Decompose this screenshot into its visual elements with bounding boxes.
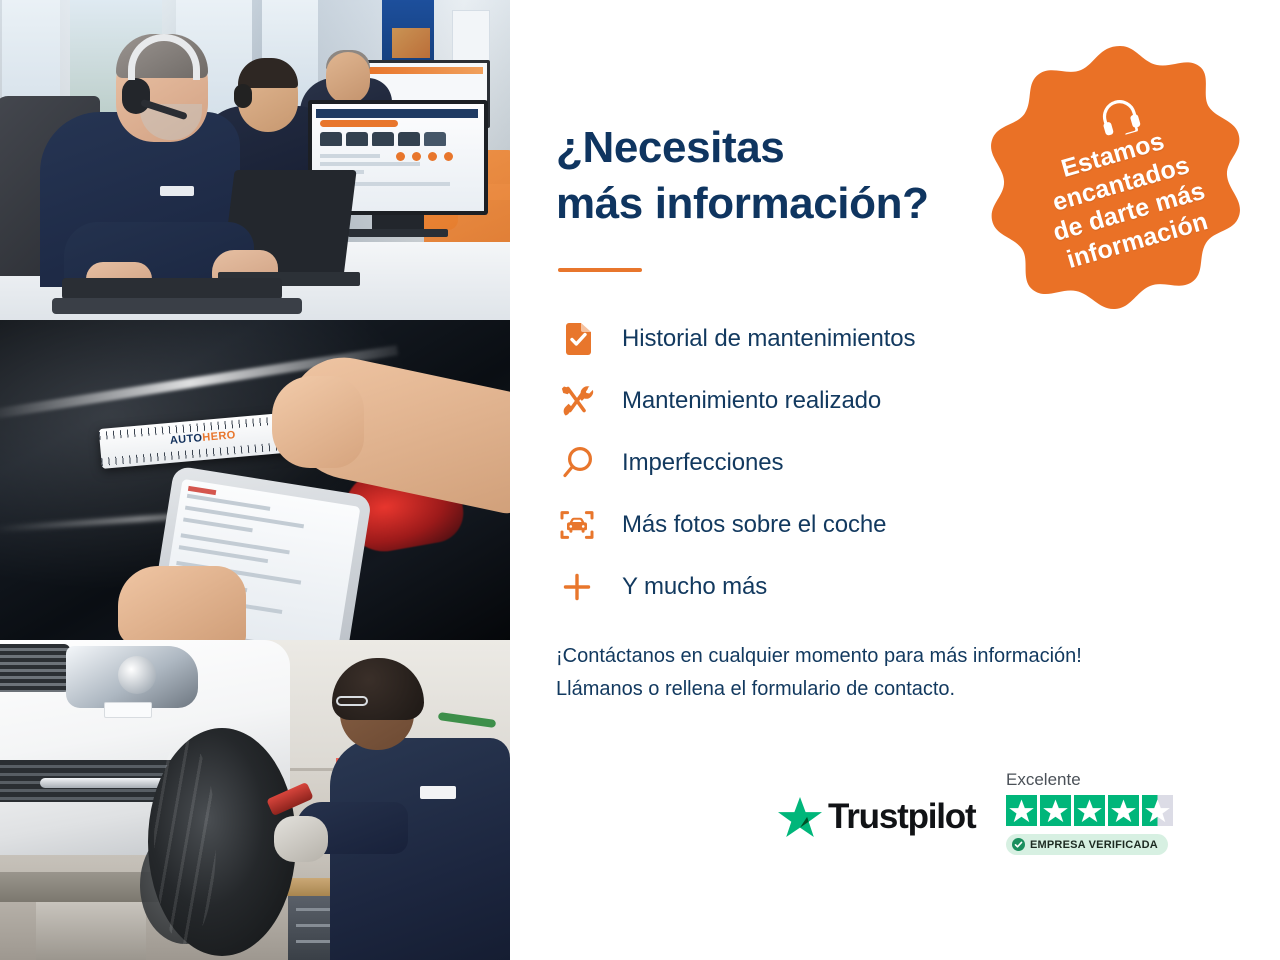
feature-label: Más fotos sobre el coche — [622, 511, 886, 539]
ruler-brand-hero: HERO — [202, 429, 236, 444]
feature-item-mantenimiento: Mantenimiento realizado — [554, 370, 1074, 432]
feature-list: Historial de mantenimientos Mantenimient… — [554, 308, 1074, 618]
trustpilot-logo[interactable]: Trustpilot — [778, 796, 975, 838]
content-panel: ¿Necesitas más información? Estamos enca — [510, 0, 1280, 960]
plus-icon — [554, 566, 600, 608]
headset-earcup — [122, 78, 150, 114]
info-badge: Estamos encantados de darte más informac… — [988, 40, 1252, 320]
inspector-hand — [118, 566, 246, 640]
car-lift-column — [36, 902, 146, 960]
rating-star-filled — [1074, 795, 1105, 826]
rating-star-filled — [1108, 795, 1139, 826]
verified-check-icon — [1012, 838, 1025, 851]
agent-three-head — [326, 52, 370, 104]
licence-plate-area — [104, 702, 152, 718]
page-title-line-1: ¿Necesitas — [556, 123, 784, 172]
document-check-icon — [554, 318, 600, 360]
desk-tablet — [62, 278, 282, 300]
ruler-brand-auto: AUTO — [169, 432, 203, 447]
trustpilot-wordmark: Trustpilot — [828, 797, 975, 837]
monitor-base — [348, 229, 448, 237]
feature-item-historial: Historial de mantenimientos — [554, 308, 1074, 370]
rating-star-filled — [1040, 795, 1071, 826]
photo-column: AUTOHERO — [0, 0, 510, 960]
magnifier-icon — [554, 442, 600, 484]
uniform-logo-patch — [420, 786, 456, 799]
car-grille — [0, 644, 70, 692]
badge-text: Estamos encantados de darte más informac… — [1034, 120, 1217, 277]
mechanic-glove — [274, 816, 328, 862]
rating-star-half — [1142, 795, 1173, 826]
contact-paragraph-line-1: ¡Contáctanos en cualquier momento para m… — [556, 645, 1082, 667]
title-divider — [558, 268, 642, 272]
trustpilot-block: Trustpilot Excelente — [778, 770, 1198, 880]
wall-poster-image — [392, 28, 430, 58]
feature-label: Y mucho más — [622, 573, 767, 601]
call-center-agents-photo — [0, 0, 510, 320]
workshop-tyre-check-photo — [0, 640, 510, 960]
feature-item-mucho-mas: Y mucho más — [554, 556, 1074, 618]
feature-item-fotos: Más fotos sobre el coche — [554, 494, 1074, 556]
feature-label: Mantenimiento realizado — [622, 387, 881, 415]
uniform-logo-patch — [160, 186, 194, 196]
trustpilot-star-icon — [778, 796, 822, 838]
rating-stars — [1006, 795, 1196, 826]
rating-label: Excelente — [1006, 770, 1196, 790]
trustpilot-rating: Excelente — [1006, 770, 1196, 856]
feature-label: Imperfecciones — [622, 449, 783, 477]
contact-paragraph-line-2: Llámanos o rellena el formulario de cont… — [556, 678, 955, 700]
contact-paragraph: ¡Contáctanos en cualquier momento para m… — [556, 640, 1236, 706]
page-title: ¿Necesitas más información? — [556, 120, 1026, 233]
car-viewfinder-icon — [554, 504, 600, 546]
verified-badge: EMPRESA VERIFICADA — [1006, 834, 1168, 855]
agent-two-headset — [234, 84, 252, 108]
safety-glasses — [336, 696, 368, 706]
desk-notebook — [52, 298, 302, 314]
tyre-tread — [154, 740, 216, 944]
rating-star-filled — [1006, 795, 1037, 826]
page-title-line-2: más información? — [556, 179, 929, 228]
feature-item-imperfecciones: Imperfecciones — [554, 432, 1074, 494]
car-headlight — [66, 646, 198, 708]
inspector-hand — [272, 376, 364, 468]
car-inspection-ruler-photo: AUTOHERO — [0, 320, 510, 640]
verified-label: EMPRESA VERIFICADA — [1030, 839, 1158, 851]
tools-cross-icon — [554, 380, 600, 422]
feature-label: Historial de mantenimientos — [622, 325, 915, 353]
promo-page: AUTOHERO — [0, 0, 1280, 960]
